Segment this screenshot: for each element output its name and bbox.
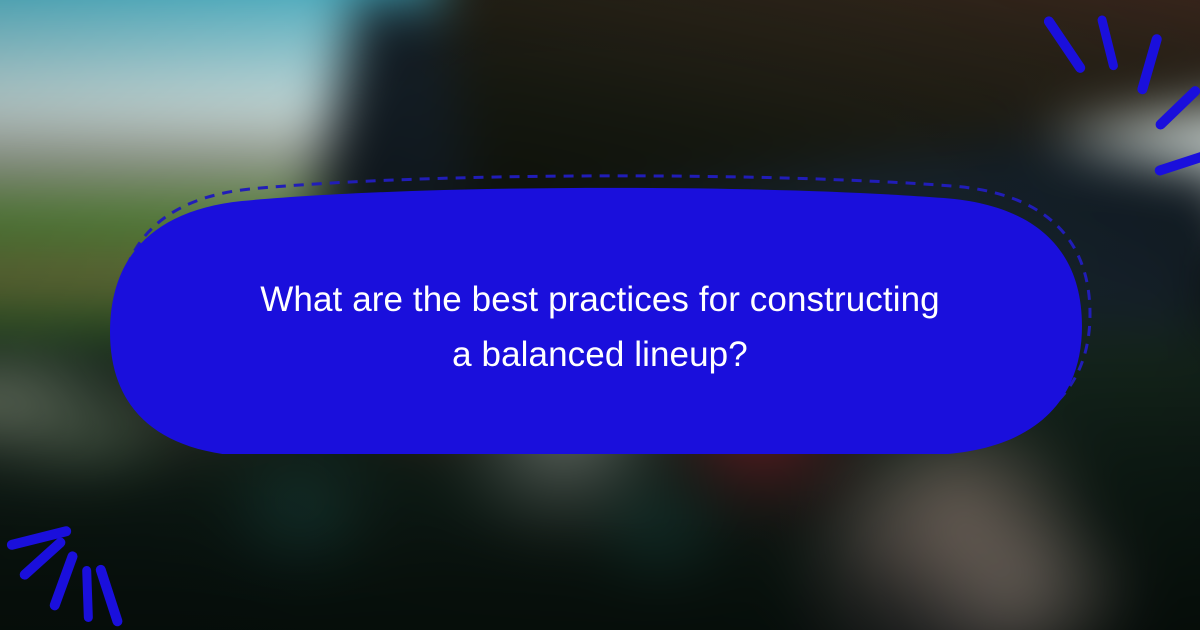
sparkle-ray xyxy=(48,550,79,612)
question-headline: What are the best practices for construc… xyxy=(150,272,1050,382)
sparkle-ray xyxy=(94,564,123,628)
sparkle-ray xyxy=(82,566,93,622)
og-image-canvas: What are the best practices for construc… xyxy=(0,0,1200,630)
